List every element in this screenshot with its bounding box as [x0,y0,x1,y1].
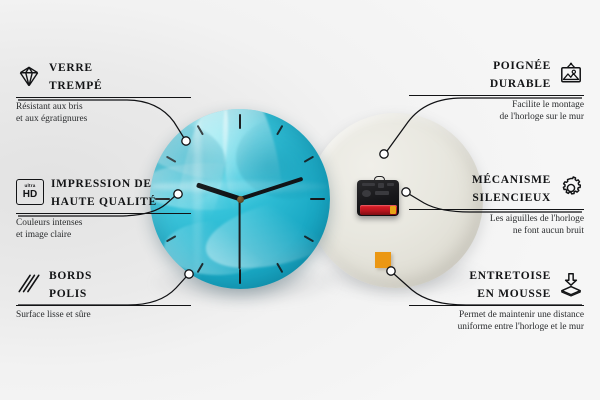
polished-edges-icon [16,271,42,297]
callout-mecanisme-silencieux[interactable]: MÉCANISME SILENCIEUX Les aiguilles de l'… [409,170,584,237]
gear-icon [558,175,584,201]
ultra-hd-icon: ultra HD [16,179,44,205]
picture-hanger-icon [558,61,584,87]
callout-title-line1: BORDS [49,270,92,282]
callout-divider [409,305,584,306]
callout-title-line2: TREMPÉ [49,80,102,92]
callout-title-line2: POLIS [49,288,87,300]
callout-desc-line2: uniforme entre l'horloge et le mur [409,322,584,333]
callout-bords-polis[interactable]: BORDS POLIS Surface lisse et sûre [16,266,191,322]
callout-title-line1: POIGNÉE [493,60,551,72]
callout-desc-line1: Facilite le montage [409,100,584,111]
product-infographic: VERRE TREMPÉ Résistant aux bris et aux é… [0,0,600,400]
callout-title-line1: MÉCANISME [472,174,551,186]
callout-desc-line2: de l'horloge sur le mur [409,112,584,123]
callout-divider [409,209,584,210]
callout-desc-line2: ne font aucun bruit [409,226,584,237]
aa-battery [360,205,397,215]
callout-desc-line2: et aux égratignures [16,114,191,125]
callout-title-line2: EN MOUSSE [477,288,551,300]
callout-divider [16,213,191,214]
callout-title-line1: IMPRESSION DE [51,178,152,190]
callout-title-line1: VERRE [49,62,93,74]
callout-desc-line1: Résistant aux bris [16,102,191,113]
callout-title-line1: ENTRETOISE [469,270,551,282]
orange-foam-spacer [375,252,391,268]
callout-title-line2: SILENCIEUX [472,192,551,204]
callout-desc-line1: Les aiguilles de l'horloge [409,214,584,225]
ultra-hd-icon-main-text: HD [23,190,37,200]
callout-divider [16,97,191,98]
foam-spacer-icon [558,271,584,297]
callout-desc-line1: Couleurs intenses [16,218,191,229]
quartz-clock-mechanism [357,176,399,216]
callout-desc-line1: Permet de maintenir une distance [409,310,584,321]
callout-title-line2: HAUTE QUALITÉ [51,196,157,208]
callout-entretoise-en-mousse[interactable]: ENTRETOISE EN MOUSSE Permet de maintenir… [409,266,584,333]
callout-divider [16,305,191,306]
battery-positive-terminal [390,206,396,214]
callout-poignee-durable[interactable]: POIGNÉE DURABLE Facilite le montage de l… [409,56,584,123]
mechanism-body [357,180,399,216]
callout-verre-trempe[interactable]: VERRE TREMPÉ Résistant aux bris et aux é… [16,58,191,125]
callout-divider [409,95,584,96]
callout-impression-haute-qualite[interactable]: ultra HD IMPRESSION DE HAUTE QUALITÉ Cou… [16,174,191,241]
callout-title-line2: DURABLE [490,78,551,90]
diamond-icon [16,63,42,89]
callout-desc-line1: Surface lisse et sûre [16,310,191,321]
callout-desc-line2: et image claire [16,230,191,241]
